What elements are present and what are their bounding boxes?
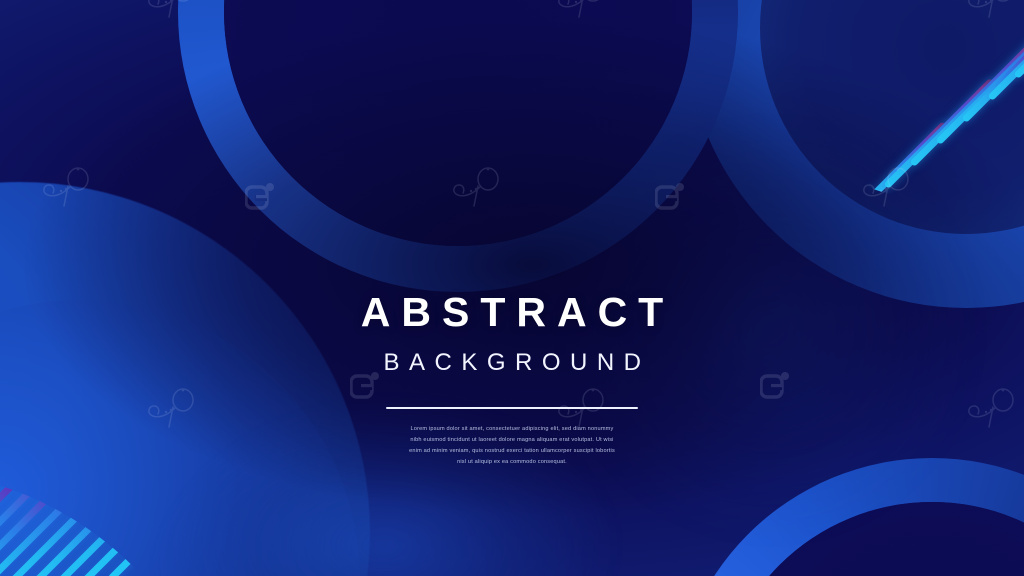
page-subtitle: BACKGROUND [10, 351, 1024, 375]
body-line: nibh euismod tincidunt ut laoreet dolore… [362, 435, 662, 446]
page-title: ABSTRACT [11, 292, 1024, 333]
center-content: ABSTRACT BACKGROUND Lorem ipsum dolor si… [0, 292, 1024, 468]
horizontal-rule [386, 407, 638, 409]
body-line: Lorem ipsum dolor sit amet, consectetuer… [362, 424, 662, 435]
body-line: enim ad minim veniam, quis nostrud exerc… [362, 446, 662, 457]
body-paragraph: Lorem ipsum dolor sit amet, consectetuer… [362, 424, 662, 468]
body-line: nisl ut aliquip ex ea commodo consequat. [362, 457, 662, 468]
abstract-background-canvas: ABSTRACT BACKGROUND Lorem ipsum dolor si… [0, 0, 1024, 576]
